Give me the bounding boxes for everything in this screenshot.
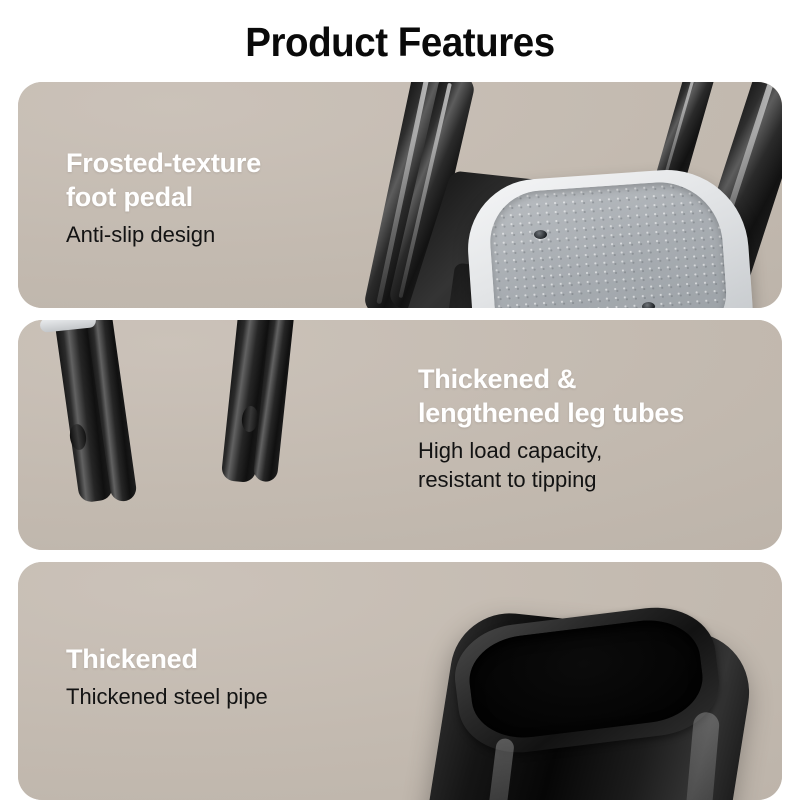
feature-text-leg-tubes: Thickened & lengthened leg tubes High lo… [418,362,684,494]
feature-subtext: High load capacity, resistant to tipping [418,436,684,494]
feature-text-steel-pipe: Thickened Thickened steel pipe [66,642,268,711]
pedal-textured-mat [487,178,729,308]
feature-subtext: Anti-slip design [66,220,261,249]
feature-heading: Thickened & lengthened leg tubes [418,362,684,430]
feature-heading: Thickened [66,642,268,676]
feature-text-foot-pedal: Frosted-texture foot pedal Anti-slip des… [66,146,261,249]
pedal-screw-icon [642,302,655,308]
feature-heading: Frosted-texture foot pedal [66,146,261,214]
pedal-screw-icon [534,230,547,239]
feature-subtext: Thickened steel pipe [66,682,268,711]
product-features-page: Product Features Frosted-texture foot pe… [0,0,800,800]
page-title: Product Features [24,18,776,66]
